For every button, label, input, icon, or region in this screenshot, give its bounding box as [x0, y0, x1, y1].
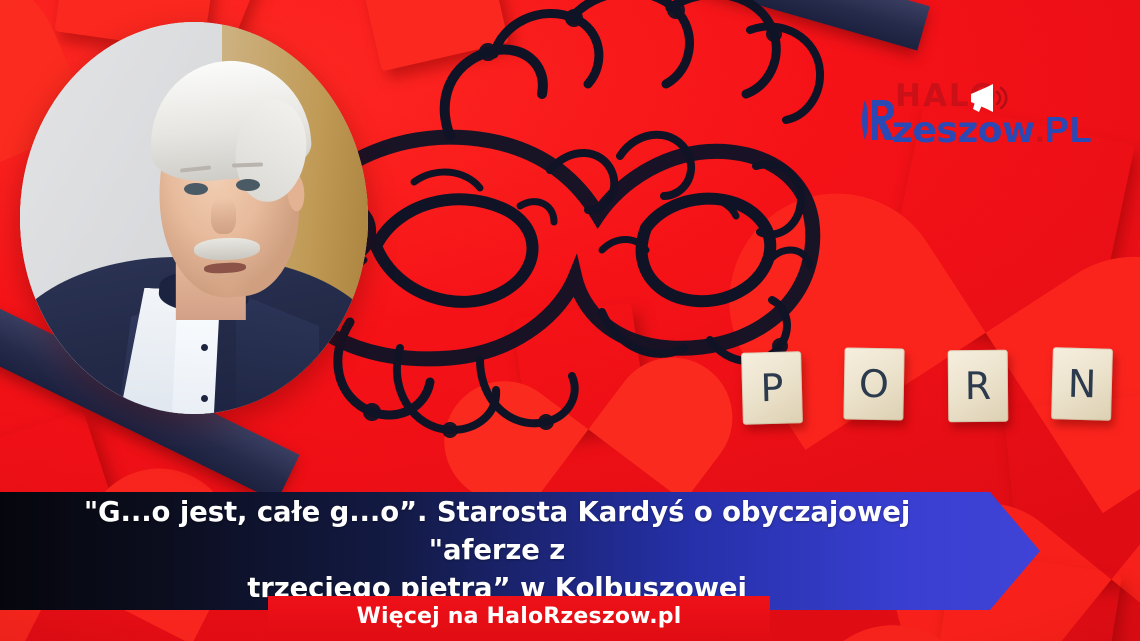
cta-label: Więcej na HaloRzeszow.pl — [356, 604, 681, 629]
cta-banner[interactable]: Więcej na HaloRzeszow.pl — [268, 596, 770, 637]
news-thumbnail-card: HALO zeszow . PL — [0, 0, 1140, 641]
headline-banner: "G...o jest, całe g...o”. Starosta Kardy… — [0, 492, 1040, 610]
headline-line-1: "G...o jest, całe g...o”. Starosta Kardy… — [32, 494, 962, 570]
